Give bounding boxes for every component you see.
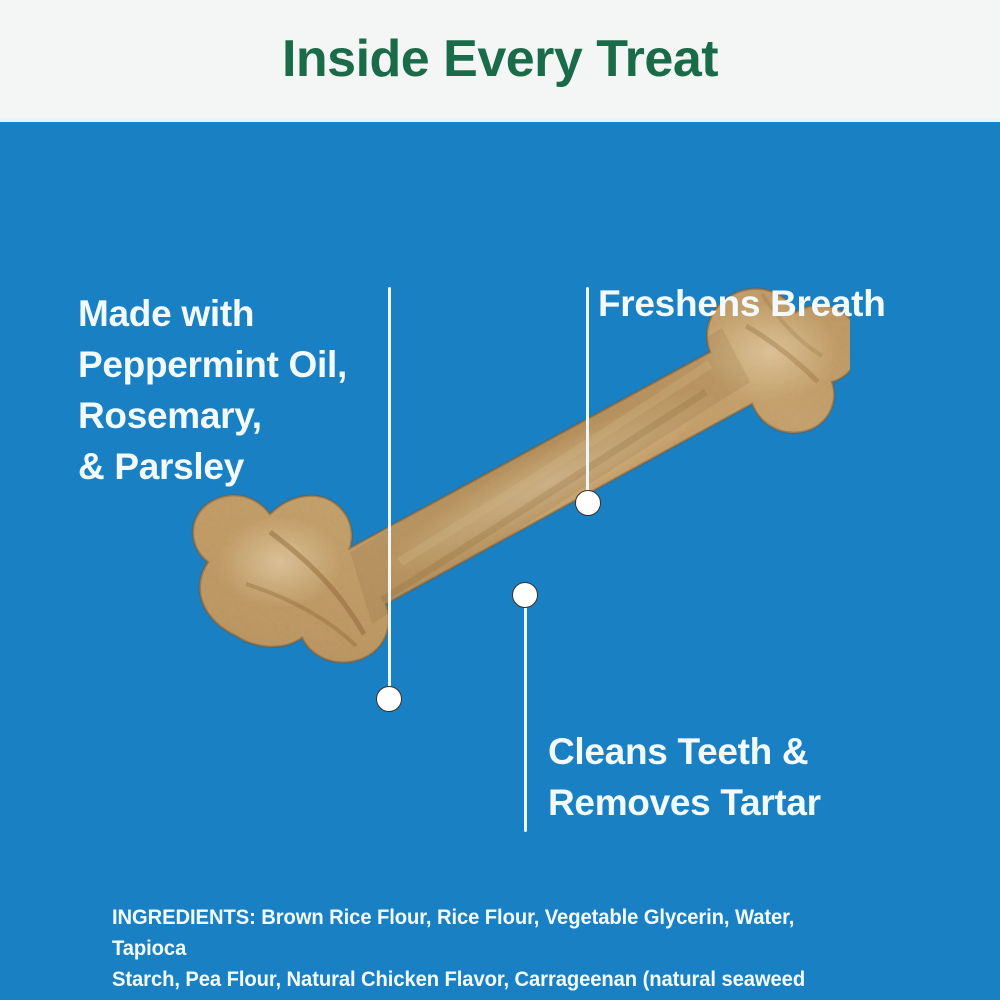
callout-freshens-breath-dot: [575, 490, 601, 516]
callout-ingredients-oils-connector: [388, 287, 391, 699]
callout-freshens-breath-connector: [586, 287, 589, 503]
page-title: Inside Every Treat: [0, 28, 1000, 90]
infographic-page: Inside Every Treat: [0, 0, 1000, 1000]
callout-ingredients-oils-dot: [376, 686, 402, 712]
callout-ingredients-oils-label: Made with Peppermint Oil, Rosemary, & Pa…: [78, 288, 398, 492]
callout-freshens-breath-label: Freshens Breath: [598, 278, 978, 329]
blue-content-panel: Made with Peppermint Oil, Rosemary, & Pa…: [0, 122, 1000, 1000]
callout-cleans-teeth-label: Cleans Teeth & Removes Tartar: [548, 726, 968, 828]
callout-cleans-teeth-connector: [524, 595, 527, 832]
ingredients-text: INGREDIENTS: Brown Rice Flour, Rice Flou…: [112, 902, 864, 1000]
callout-cleans-teeth-dot: [512, 582, 538, 608]
header-band: Inside Every Treat: [0, 0, 1000, 122]
